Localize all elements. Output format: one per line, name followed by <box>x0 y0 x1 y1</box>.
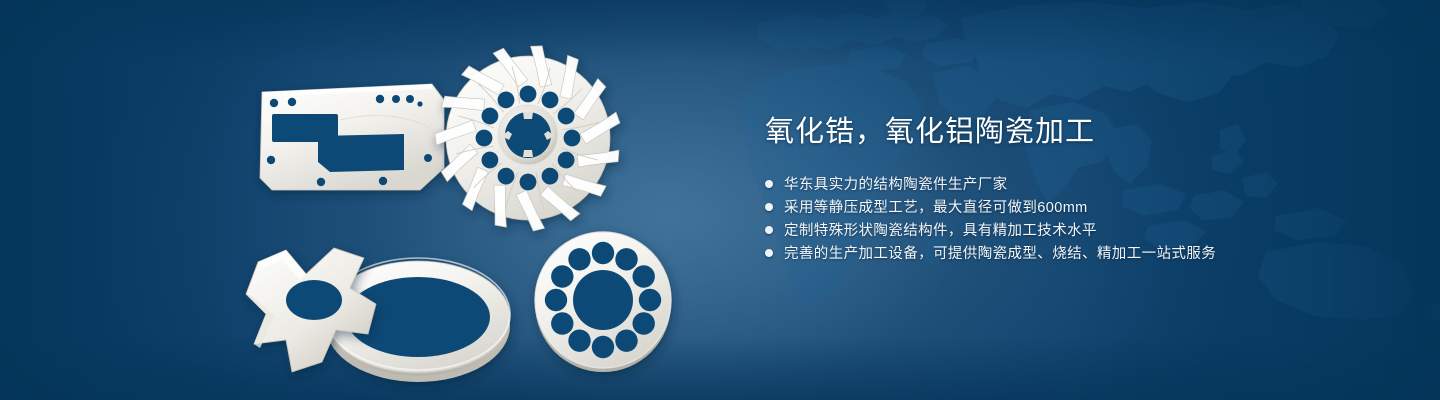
ceramic-bladed-impeller <box>433 42 623 232</box>
promo-banner: 氧化锆，氧化铝陶瓷加工 华东具实力的结构陶瓷件生产厂家 采用等静压成型工艺，最大… <box>0 0 1440 400</box>
list-item: 定制特殊形状陶瓷结构件，具有精加工技术水平 <box>765 218 1216 241</box>
feature-bullet-list: 华东具实力的结构陶瓷件生产厂家 采用等静压成型工艺，最大直径可做到600mm 定… <box>765 172 1216 264</box>
banner-headline: 氧化锆，氧化铝陶瓷加工 <box>765 114 1095 151</box>
list-item: 采用等静压成型工艺，最大直径可做到600mm <box>765 195 1216 218</box>
bullet-dot-icon <box>765 249 773 257</box>
banner-text-block: 氧化锆，氧化铝陶瓷加工 华东具实力的结构陶瓷件生产厂家 采用等静压成型工艺，最大… <box>765 0 1425 400</box>
ceramic-machined-plate <box>260 84 444 190</box>
bullet-text: 定制特殊形状陶瓷结构件，具有精加工技术水平 <box>784 219 1097 240</box>
bullet-text: 完善的生产加工设备，可提供陶瓷成型、烧结、精加工一站式服务 <box>784 242 1216 263</box>
bullet-text: 采用等静压成型工艺，最大直径可做到600mm <box>784 196 1088 217</box>
bullet-dot-icon <box>765 203 773 211</box>
product-photo-collage <box>0 0 740 400</box>
bullet-dot-icon <box>765 226 773 234</box>
ceramic-perforated-disc <box>535 232 671 372</box>
bullet-text: 华东具实力的结构陶瓷件生产厂家 <box>784 173 1008 194</box>
list-item: 华东具实力的结构陶瓷件生产厂家 <box>765 172 1216 195</box>
list-item: 完善的生产加工设备，可提供陶瓷成型、烧结、精加工一站式服务 <box>765 241 1216 264</box>
bullet-dot-icon <box>765 180 773 188</box>
